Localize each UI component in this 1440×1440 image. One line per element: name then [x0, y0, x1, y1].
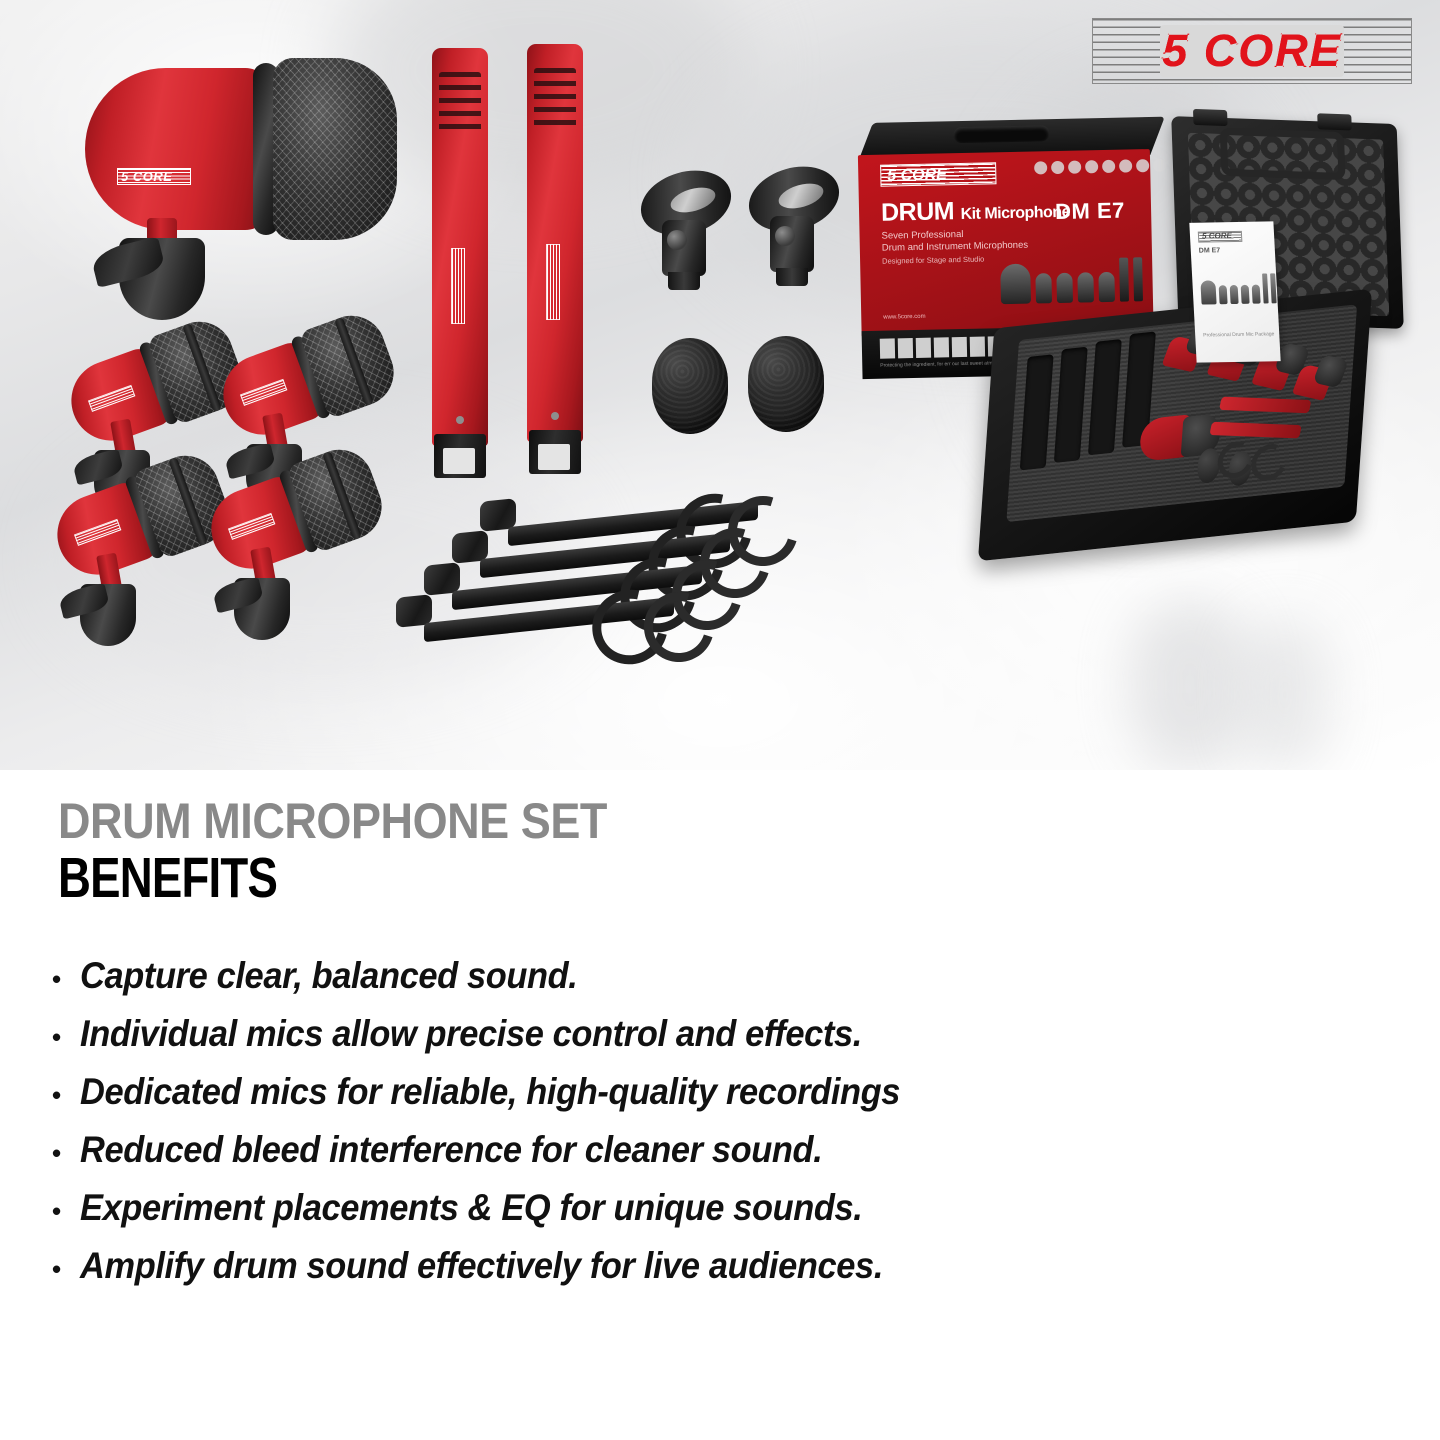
benefit-text: Dedicated mics for reliable, high-qualit…	[80, 1071, 900, 1113]
benefit-item: • Capture clear, balanced sound.	[52, 955, 1392, 997]
tom-mic-logo	[240, 379, 287, 406]
kick-mic-grille	[273, 58, 397, 240]
pencil-mic-screw	[551, 412, 559, 420]
manual-pencil-mic-icon	[1262, 273, 1269, 303]
manual-kick-mic-icon	[1200, 280, 1216, 304]
bullet-icon: •	[52, 1256, 80, 1282]
kick-mic-logo-text: 5 CORE	[121, 169, 172, 184]
stored-mic-clip	[1247, 438, 1291, 487]
product-photo-section: 5 CORE 5 CORE	[0, 0, 1440, 770]
benefit-item: • Dedicated mics for reliable, high-qual…	[52, 1071, 1392, 1113]
pencil-mic-label	[538, 444, 570, 470]
manual-brand-text: 5 CORE	[1202, 231, 1232, 241]
background-blur-shape	[1130, 600, 1250, 770]
handling-icon	[952, 337, 967, 357]
retail-box-brand-logo: 5 CORE	[880, 162, 996, 186]
mic-clip-neck	[662, 220, 706, 276]
manual-caption: Professional Drum Mic Package	[1203, 331, 1274, 338]
microphone-clip	[640, 172, 732, 292]
benefit-item: • Individual mics allow precise control …	[52, 1013, 1392, 1055]
foam-cutout-clamp	[1088, 339, 1122, 455]
case-latch	[1193, 109, 1228, 126]
mic-clip-thumbscrew	[775, 226, 795, 246]
retail-box-tagline: Designed for Stage and Studio	[882, 255, 984, 266]
benefit-item: • Reduced bleed interference for cleaner…	[52, 1129, 1392, 1171]
microphone-clip	[748, 168, 840, 288]
retail-box-title-bold: DRUM	[881, 197, 955, 227]
retail-box-website: www.5core.com	[883, 314, 925, 321]
benefits-section: DRUM MICROPHONE SET BENEFITS • Capture c…	[0, 770, 1440, 1440]
background-blur-shape	[1240, 620, 1330, 770]
benefit-text: Capture clear, balanced sound.	[80, 955, 578, 997]
benefit-item: • Amplify drum sound effectively for liv…	[52, 1245, 1392, 1287]
manual-pencil-mic-icon	[1270, 273, 1277, 303]
stored-tom-mic-grille	[1313, 354, 1349, 388]
case-handle	[1220, 128, 1346, 180]
benefits-list: • Capture clear, balanced sound. • Indiv…	[52, 955, 1392, 1303]
manual-illustration	[1200, 273, 1277, 304]
section-eyebrow: DRUM MICROPHONE SET	[58, 792, 607, 850]
pencil-mic-label	[443, 448, 475, 474]
pencil-condenser-microphone	[527, 44, 583, 474]
retail-box-brand-text: 5 CORE	[887, 165, 947, 185]
brand-logo-label: 5 CORE	[1160, 25, 1344, 77]
pencil-mic-grille-slots	[439, 72, 481, 134]
kick-mic-logo: 5 CORE	[117, 168, 191, 185]
handling-icon	[916, 338, 931, 358]
brand-logo-text: 5 CORE	[1092, 18, 1412, 84]
mic-clip-neck	[770, 216, 814, 272]
stored-pencil-mic	[1209, 422, 1301, 439]
manual-tom-mic-icon	[1252, 285, 1261, 304]
tom-mic-logo	[88, 385, 135, 412]
brand-logo: 5 CORE	[1092, 18, 1412, 84]
bullet-icon: •	[52, 1082, 80, 1108]
tom-mic-logo	[228, 513, 275, 540]
pencil-mic-grille-slots	[534, 68, 576, 130]
kick-drum-microphone: 5 CORE	[85, 30, 385, 330]
case-latch	[1317, 113, 1352, 130]
handling-icon	[970, 337, 985, 357]
foam-windscreen	[748, 336, 824, 432]
case-base-foam	[1006, 304, 1357, 522]
bullet-icon: •	[52, 1140, 80, 1166]
mic-clip-thread	[776, 268, 808, 286]
tom-mic-logo	[74, 519, 121, 546]
handling-icon	[880, 338, 895, 358]
benefit-item: • Experiment placements & EQ for unique …	[52, 1187, 1392, 1229]
manual-brand-logo: 5 CORE	[1198, 231, 1243, 243]
benefit-text: Reduced bleed interference for cleaner s…	[80, 1129, 822, 1171]
kick-mic-body: 5 CORE	[85, 68, 270, 230]
handling-icon	[898, 338, 913, 358]
manual-tom-mic-icon	[1230, 285, 1239, 304]
pencil-mic-logo	[451, 248, 465, 324]
carrying-case-base	[978, 289, 1372, 562]
benefit-text: Individual mics allow precise control an…	[80, 1013, 862, 1055]
benefit-text: Amplify drum sound effectively for live …	[80, 1245, 883, 1287]
manual-tom-mic-icon	[1219, 285, 1228, 304]
manual-tom-mic-icon	[1241, 285, 1250, 304]
handling-icon	[934, 337, 949, 357]
bullet-icon: •	[52, 1198, 80, 1224]
instruction-manual: 5 CORE DM E7 Professional Drum Mic Packa…	[1189, 221, 1280, 362]
foam-windscreen	[652, 338, 728, 434]
pencil-condenser-microphone	[432, 48, 488, 478]
foam-cutout-clamp	[1020, 354, 1054, 470]
bullet-icon: •	[52, 966, 80, 992]
section-title: BENEFITS	[58, 845, 277, 911]
pencil-mic-screw	[456, 416, 464, 424]
bullet-icon: •	[52, 1024, 80, 1050]
mic-clip-thread	[668, 272, 700, 290]
benefit-text: Experiment placements & EQ for unique so…	[80, 1187, 862, 1229]
manual-model: DM E7	[1199, 247, 1221, 254]
pencil-mic-logo	[546, 244, 560, 320]
mic-clip-thumbscrew	[667, 230, 687, 250]
tom-microphone	[212, 486, 392, 656]
stored-pencil-mic	[1219, 397, 1311, 414]
drum-rim-clamp	[396, 588, 696, 652]
foam-cutout-clamp	[1054, 347, 1088, 463]
